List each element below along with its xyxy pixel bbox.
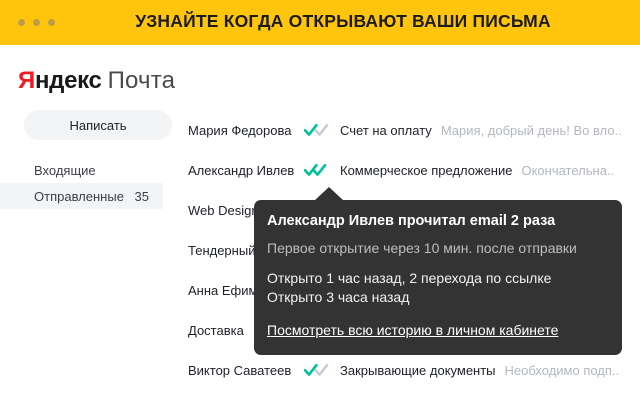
double-check-icon [304, 363, 330, 377]
tooltip-arrow [314, 187, 344, 201]
logo-accent-letter: Я [18, 67, 35, 94]
tooltip-title: Александр Ивлев прочитал email 2 раза [267, 213, 608, 229]
mail-preview: Окончательна.. [521, 163, 640, 178]
mail-sender: Мария Федорова [188, 123, 300, 138]
logo-brand-rest: ндекс [35, 67, 102, 94]
sidebar-item-sent[interactable]: Отправленные 35 [0, 183, 163, 209]
mail-subject: Счет на оплату [340, 123, 432, 138]
mail-sender: Александр Ивлев [188, 163, 300, 178]
yandex-mail-logo: ЯндексПочта [18, 69, 175, 93]
promo-banner: УЗНАЙТЕ КОГДА ОТКРЫВАЮТ ВАШИ ПИСЬМА [0, 0, 640, 45]
folder-count: 35 [135, 189, 149, 204]
compose-button[interactable]: Написать [24, 110, 172, 140]
read-receipt-tooltip: Александр Ивлев прочитал email 2 раза Пе… [254, 200, 622, 355]
table-row[interactable]: Виктор Саватеев Закрывающие документы Не… [188, 350, 640, 390]
mail-preview: Мария, добрый день! Во вло.. [441, 123, 640, 138]
view-full-history-link[interactable]: Посмотреть всю историю в личном кабинете [267, 322, 558, 338]
double-check-icon [304, 123, 330, 137]
folder-list: Входящие Отправленные 35 [0, 157, 180, 209]
mail-subject: Закрывающие документы [340, 363, 496, 378]
table-row[interactable]: Мария Федорова Счет на оплату Мария, доб… [188, 110, 640, 150]
logo-product: Почта [108, 67, 176, 94]
mail-preview: Необходимо подп.. [505, 363, 640, 378]
banner-title: УЗНАЙТЕ КОГДА ОТКРЫВАЮТ ВАШИ ПИСЬМА [0, 11, 640, 32]
tooltip-subtitle: Первое открытие через 10 мин. после отпр… [267, 240, 608, 256]
read-status-checks [300, 363, 340, 377]
read-status-checks [300, 163, 340, 177]
mail-sender: Виктор Саватеев [188, 363, 300, 378]
sidebar-item-inbox[interactable]: Входящие [0, 157, 163, 183]
read-status-checks [300, 123, 340, 137]
sidebar: Написать Входящие Отправленные 35 [0, 110, 180, 209]
table-row[interactable]: Александр Ивлев Коммерческое предложение… [188, 150, 640, 190]
folder-label: Отправленные [34, 189, 135, 204]
mail-subject: Коммерческое предложение [340, 163, 512, 178]
tooltip-event: Открыто 1 час назад, 2 перехода по ссылк… [267, 270, 608, 286]
double-check-icon [304, 163, 330, 177]
folder-label: Входящие [34, 163, 149, 178]
tooltip-event: Открыто 3 часа назад [267, 289, 608, 305]
